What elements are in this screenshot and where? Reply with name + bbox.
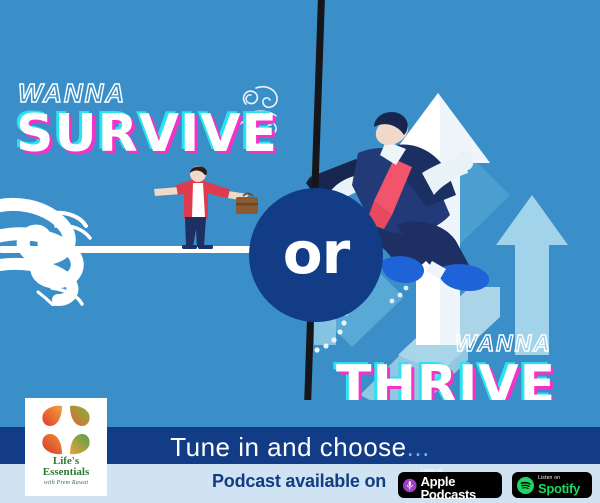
or-badge: or [249,188,383,322]
logo-title: Life's Essentials [25,456,107,478]
spotify-badge[interactable]: Listen on Spotify [512,472,592,498]
apple-podcasts-icon [403,477,417,494]
apple-badge-large: Apple Podcasts [421,475,495,501]
podcast-logo-card[interactable]: Life's Essentials with Prem Rawat [25,398,107,496]
availability-label: Podcast available on [212,471,386,492]
tagline-text: Tune in and choose [170,432,406,462]
tightrope-walker-figure [150,165,260,251]
logo-title-line2: Essentials [25,467,107,478]
logo-petals-icon [37,404,95,456]
frayed-rope-coil-icon [0,196,106,306]
spotify-badge-small: Listen on [538,476,580,481]
logo-subtitle: with Prem Rawat [25,480,107,486]
spotify-icon [517,477,534,494]
or-label: or [283,224,349,282]
headline-survive-text: SURVIVE [16,104,278,164]
headline-survive: SURVIVE SURVIVE SURVIVE [16,104,278,164]
apple-podcasts-badge[interactable]: Listen on Apple Podcasts [398,472,502,498]
tagline-ellipsis: ... [407,432,430,462]
podcast-promo-graphic: WANNA SURVIVE SURVIVE SURVIVE WANNA THRI… [0,0,600,503]
spotify-badge-large: Spotify [538,482,580,495]
